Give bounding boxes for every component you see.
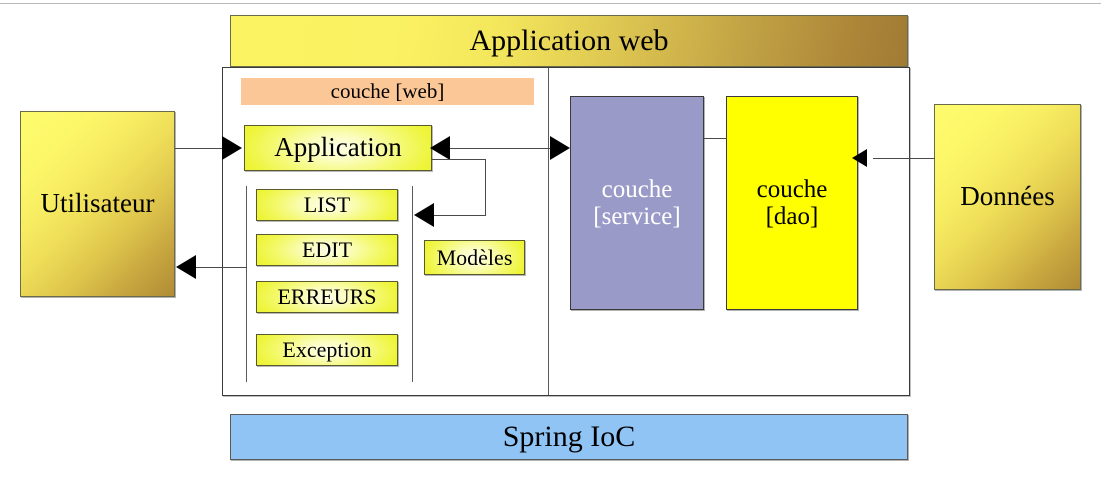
view-component-edit[interactable]: EDIT	[256, 234, 398, 266]
application-web-title-bar: Application web	[230, 15, 908, 67]
connector-data-to-dao	[873, 158, 935, 159]
application-component[interactable]: Application	[244, 125, 432, 171]
view-component-list[interactable]: LIST	[256, 189, 398, 221]
arrow-data-to-dao	[852, 149, 867, 167]
top-rule-divider	[0, 3, 1101, 4]
actor-utilisateur-label: Utilisateur	[41, 189, 155, 218]
connector-service-to-dao	[704, 138, 727, 139]
view-component-erreurs-label: ERREURS	[277, 285, 376, 309]
couche-service-label: couche [service]	[593, 176, 680, 230]
view-component-exception-label: Exception	[282, 338, 371, 362]
arrow-application-to-service	[550, 136, 570, 160]
connector-application-to-service	[448, 148, 566, 149]
view-component-list-label: LIST	[304, 193, 350, 217]
arrow-service-to-application	[430, 136, 450, 160]
views-right-rail	[412, 186, 413, 382]
couche-service-component[interactable]: couche [service]	[570, 96, 704, 310]
modeles-component[interactable]: Modèles	[424, 240, 525, 275]
application-component-label: Application	[274, 133, 401, 162]
view-component-exception[interactable]: Exception	[256, 334, 398, 366]
application-web-title-label: Application web	[469, 25, 668, 57]
view-component-erreurs[interactable]: ERREURS	[256, 281, 398, 313]
modeles-component-label: Modèles	[437, 246, 513, 270]
couche-dao-label-line2: [dao]	[766, 203, 819, 230]
spring-ioc-footer-bar: Spring IoC	[230, 414, 908, 460]
actor-donnees-label: Données	[960, 182, 1054, 211]
couche-web-banner: couche [web]	[241, 78, 534, 105]
actor-utilisateur[interactable]: Utilisateur	[20, 111, 175, 297]
connector-application-drop-vertical	[485, 159, 486, 215]
arrow-views-to-user	[176, 255, 196, 279]
actor-donnees[interactable]: Données	[934, 104, 1081, 290]
couche-service-label-line1: couche	[602, 176, 673, 203]
connector-views-to-user	[196, 267, 247, 268]
web-service-divider	[548, 68, 549, 395]
arrow-application-to-views	[414, 203, 434, 227]
views-left-rail	[246, 186, 247, 382]
view-component-edit-label: EDIT	[302, 238, 352, 262]
couche-dao-label-line1: couche	[757, 176, 828, 203]
arrow-user-to-application	[222, 136, 242, 160]
couche-dao-component[interactable]: couche [dao]	[726, 96, 858, 310]
connector-application-drop-top	[432, 159, 486, 160]
couche-service-label-line2: [service]	[593, 203, 680, 230]
connector-application-drop-bottom	[432, 215, 486, 216]
couche-web-banner-label: couche [web]	[331, 80, 445, 103]
couche-dao-label: couche [dao]	[757, 176, 828, 230]
diagram-canvas: Application web Utilisateur Données couc…	[0, 0, 1101, 488]
spring-ioc-footer-label: Spring IoC	[503, 421, 636, 453]
